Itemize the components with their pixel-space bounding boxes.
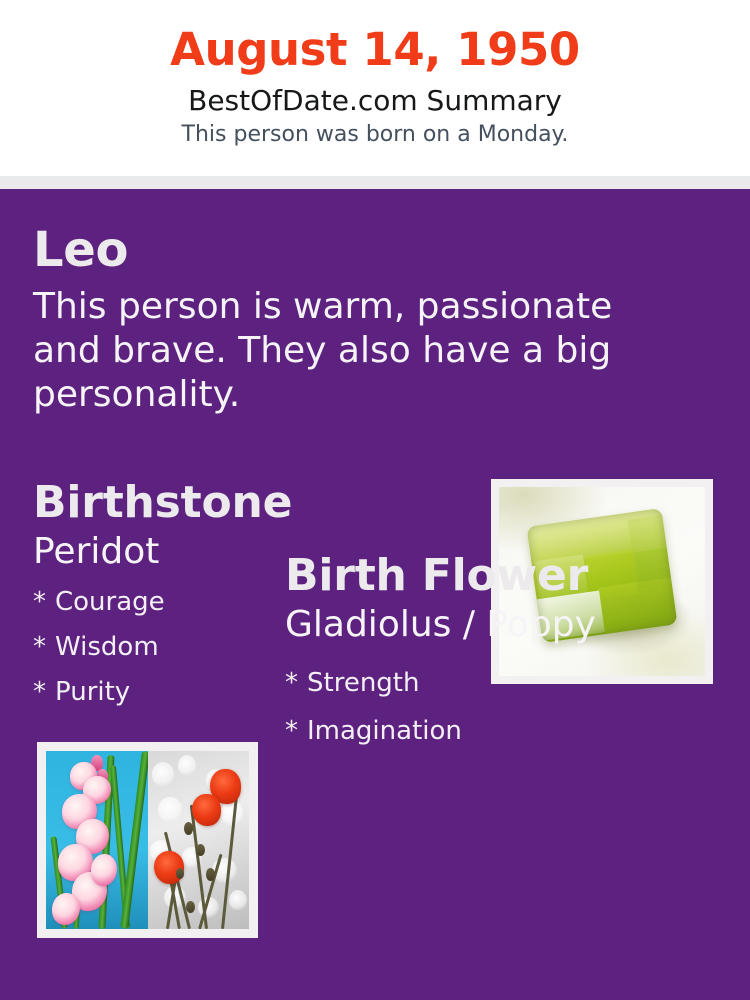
poppy-photo-half bbox=[148, 751, 250, 929]
birthstone-trait-label: Wisdom bbox=[55, 632, 159, 662]
birth-flower-section: Birth Flower Gladiolus / Poppy *Strength… bbox=[285, 550, 735, 755]
zodiac-section: Leo This person is warm, passionate and … bbox=[33, 223, 693, 417]
bokeh-light bbox=[158, 797, 182, 822]
birth-flower-image-frame bbox=[37, 742, 258, 938]
bokeh-light bbox=[178, 755, 196, 776]
poppy-bud-icon bbox=[176, 868, 184, 879]
gladiolus-photo-half bbox=[46, 751, 148, 929]
site-summary-label: BestOfDate.com Summary bbox=[0, 78, 750, 118]
list-item: *Strength bbox=[285, 659, 735, 707]
birthday-summary-page: August 14, 1950 BestOfDate.com Summary T… bbox=[0, 0, 750, 1000]
asterisk-icon: * bbox=[285, 707, 307, 755]
birth-flower-trait-label: Imagination bbox=[307, 716, 462, 746]
bokeh-light bbox=[229, 890, 247, 911]
birth-flower-trait-label: Strength bbox=[307, 668, 419, 698]
gladiolus-bloom-icon bbox=[91, 854, 117, 886]
birth-flower-name: Gladiolus / Poppy bbox=[285, 602, 735, 647]
zodiac-description: This person is warm, passionate and brav… bbox=[33, 277, 683, 417]
poppy-bud-icon bbox=[186, 901, 195, 913]
leaf-blade bbox=[120, 751, 147, 929]
poppy-bud-icon bbox=[184, 822, 193, 834]
asterisk-icon: * bbox=[33, 625, 55, 670]
poppy-bloom-icon bbox=[192, 794, 220, 826]
poppy-bud-icon bbox=[196, 844, 205, 856]
page-title-date: August 14, 1950 bbox=[0, 0, 750, 78]
asterisk-icon: * bbox=[33, 670, 55, 715]
birth-flower-trait-list: *Strength *Imagination bbox=[285, 647, 735, 755]
birthstone-title: Birthstone bbox=[33, 477, 463, 529]
asterisk-icon: * bbox=[33, 580, 55, 625]
birthstone-trait-label: Courage bbox=[55, 587, 165, 617]
gladiolus-poppy-image bbox=[46, 751, 249, 929]
birthstone-trait-label: Purity bbox=[55, 677, 130, 707]
bokeh-light bbox=[152, 762, 174, 787]
zodiac-sign-name: Leo bbox=[33, 223, 693, 277]
birth-flower-title: Birth Flower bbox=[285, 550, 735, 602]
asterisk-icon: * bbox=[285, 659, 307, 707]
page-header: August 14, 1950 BestOfDate.com Summary T… bbox=[0, 0, 750, 176]
list-item: *Imagination bbox=[285, 707, 735, 755]
born-weekday-note: This person was born on a Monday. bbox=[0, 118, 750, 149]
